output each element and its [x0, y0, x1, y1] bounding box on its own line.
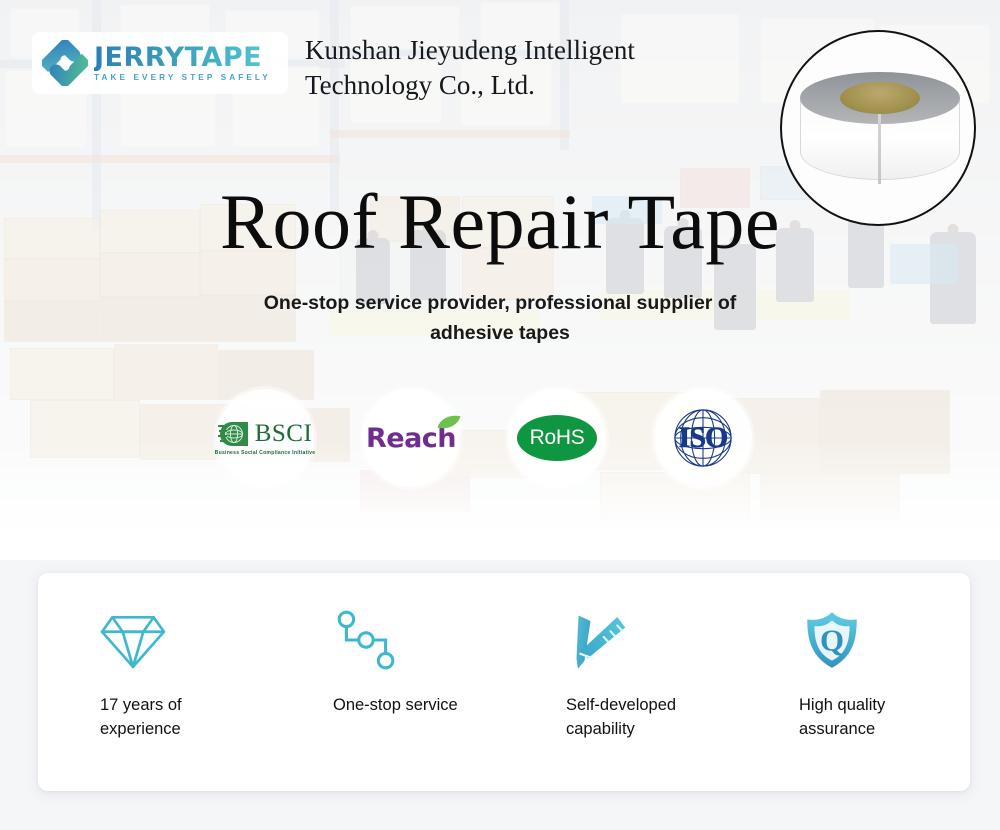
cardboard-box [820, 390, 950, 474]
cardboard-box [114, 344, 218, 400]
tape-core [840, 82, 920, 114]
page-subtitle: One-stop service provider, professional … [250, 288, 750, 348]
cardboard-box [30, 400, 140, 458]
iso-logo: ISO [661, 407, 745, 469]
logo-tagline: TAKE EVERY STEP SAFELY [94, 74, 271, 82]
shield-q-icon: Q [799, 609, 865, 671]
badge-iso[interactable]: ISO [654, 389, 752, 487]
product-banner: JERRYTAPE TAKE EVERY STEP SAFELY Kunshan… [0, 0, 1000, 830]
bsci-subtitle: Business Social Compliance Initiative [215, 450, 316, 456]
feature-label: 17 years of experience [100, 694, 260, 742]
badge-rohs[interactable]: RoHS [508, 389, 606, 487]
bsci-logo: BSCI Business Social Compliance Initiati… [215, 421, 316, 456]
rohs-logo: RoHS [517, 415, 597, 461]
feature-item-quality[interactable]: Q High quality assurance [737, 609, 970, 742]
tape-seam [878, 114, 881, 184]
bsci-name: BSCI [255, 421, 313, 446]
cardboard-box [100, 296, 200, 342]
bsci-row: BSCI [218, 421, 313, 447]
rack-beam [330, 130, 570, 138]
feature-label: One-stop service [333, 694, 493, 718]
feature-label: High quality assurance [799, 694, 959, 742]
brand-logo[interactable]: JERRYTAPE TAKE EVERY STEP SAFELY [32, 32, 288, 94]
svg-text:Q: Q [820, 622, 844, 657]
logo-wordmark: JERRYTAPE TAKE EVERY STEP SAFELY [94, 44, 271, 82]
diamond-icon [100, 609, 166, 671]
feature-card: 17 years of experience One-stop service [38, 573, 970, 791]
cardboard-box [10, 348, 114, 400]
certification-badges: BSCI Business Social Compliance Initiati… [216, 388, 784, 488]
tape-roll-illustration [800, 72, 960, 188]
feature-item-self-developed[interactable]: Self-developed capability [504, 609, 737, 742]
feature-label: Self-developed capability [566, 694, 726, 742]
badge-bsci[interactable]: BSCI Business Social Compliance Initiati… [216, 389, 314, 487]
iso-name: ISO [679, 421, 728, 455]
reach-logo: Reach [366, 423, 456, 454]
feature-item-one-stop[interactable]: One-stop service [271, 609, 504, 718]
rohs-name: RoHS [530, 426, 585, 450]
bsci-globe-hand-icon [218, 421, 252, 447]
badge-reach[interactable]: Reach [362, 389, 460, 487]
cardboard-box [4, 300, 100, 342]
logo-word: JERRYTAPE [94, 44, 271, 71]
flow-nodes-icon [333, 609, 399, 671]
company-name: Kunshan Jieyudeng Intelligent Technology… [305, 33, 745, 102]
product-image[interactable] [780, 30, 976, 226]
pinwheel-diamond-icon [42, 40, 88, 86]
rack-beam [0, 155, 340, 163]
pencil-ruler-icon [566, 609, 632, 671]
cardboard-box [4, 258, 100, 302]
feature-item-experience[interactable]: 17 years of experience [38, 609, 271, 742]
